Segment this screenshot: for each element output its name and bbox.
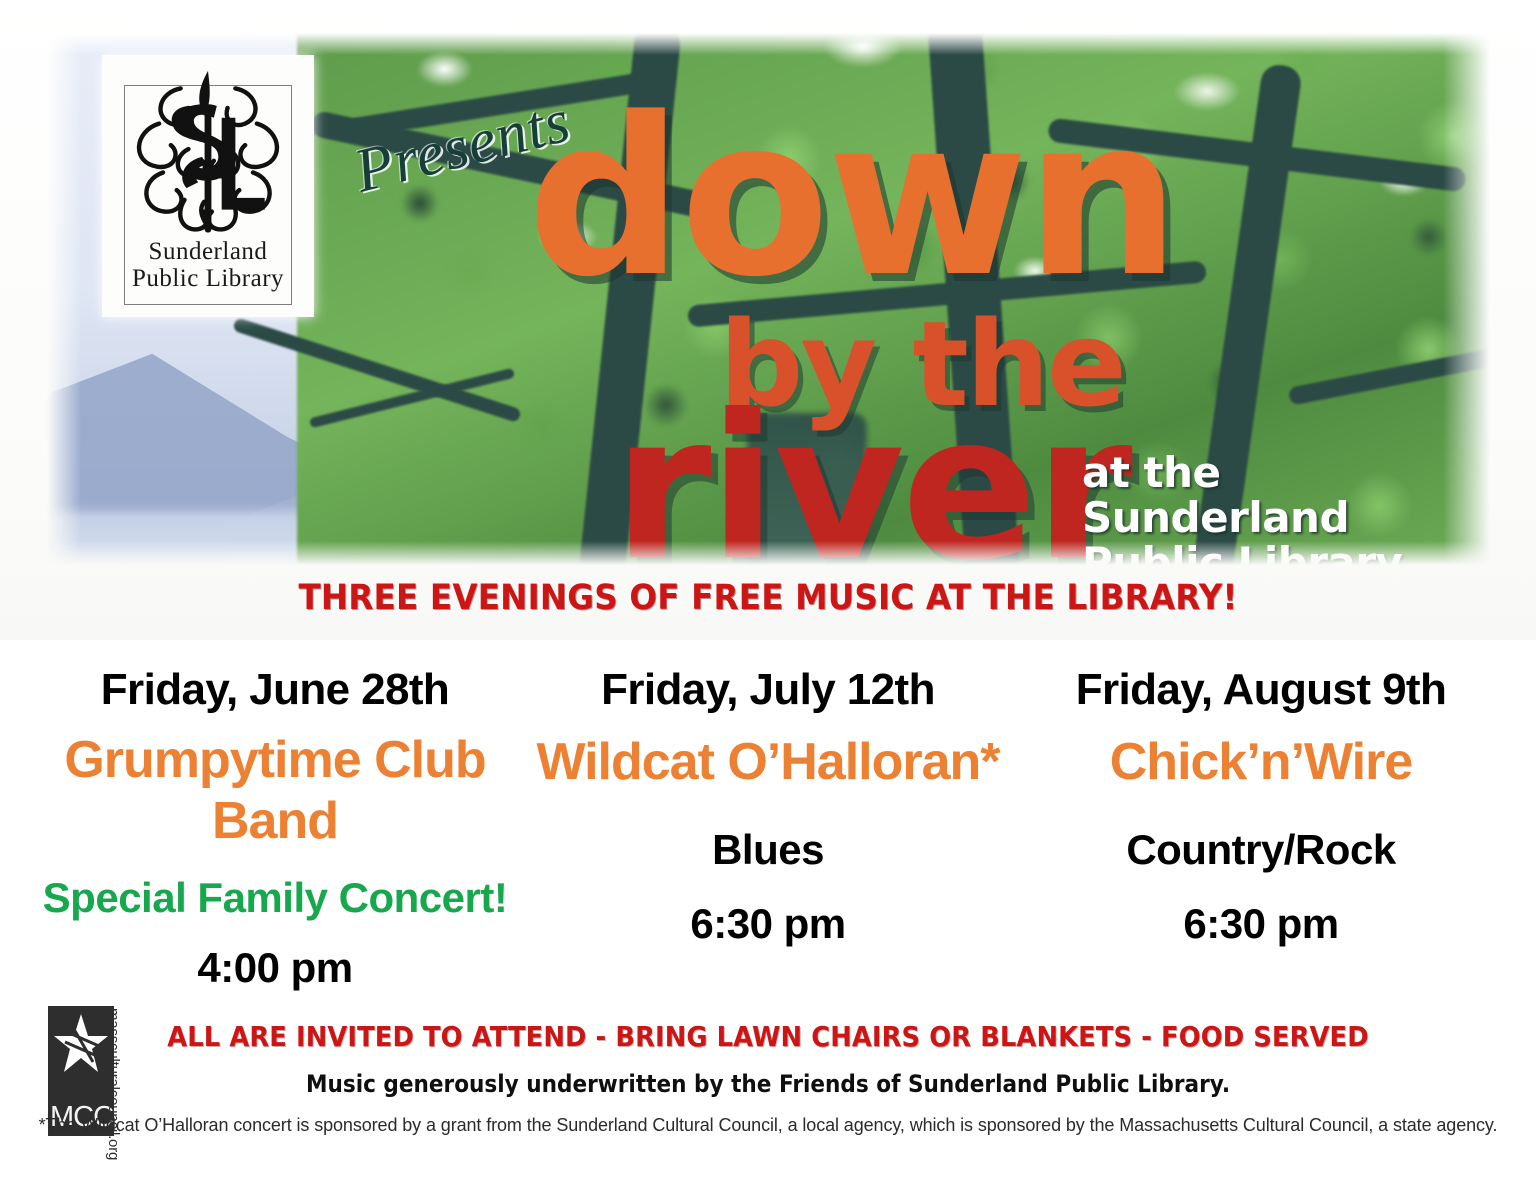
poster-root: Sunderland Public Library Presents down … (0, 0, 1536, 1187)
logo-line-1: Sunderland (132, 239, 284, 264)
venue-line-2: Sunderland (1082, 496, 1402, 541)
concert-genre: Country/Rock (1026, 827, 1496, 873)
concert-column-3: Friday, August 9th Chick’n’Wire Country/… (1026, 666, 1496, 947)
tagline: THREE EVENINGS OF FREE MUSIC AT THE LIBR… (54, 578, 1482, 618)
concert-time: 4:00 pm (40, 945, 510, 991)
concert-genre: Blues (533, 827, 1003, 873)
venue-line-3: Public Library (1082, 541, 1402, 565)
concert-genre: Special Family Concert! (40, 875, 510, 921)
hero-banner-image: Sunderland Public Library Presents down … (47, 33, 1490, 565)
concert-list: Friday, June 28th Grumpytime Club Band S… (40, 666, 1496, 991)
spl-monogram-icon (119, 63, 297, 239)
footer-invite: ALL ARE INVITED TO ATTEND - BRING LAWN C… (61, 1020, 1474, 1053)
concert-column-2: Friday, July 12th Wildcat O’Halloran* Bl… (533, 666, 1003, 947)
concert-band: Chick’n’Wire (1026, 732, 1496, 792)
concert-band: Grumpytime Club Band (40, 730, 510, 851)
library-logo-text: Sunderland Public Library (132, 239, 284, 291)
footer-footnote: *The Wildcat O’Halloran concert is spons… (0, 1115, 1536, 1136)
venue-line-1: at the (1082, 451, 1402, 496)
venue-subtitle: at the Sunderland Public Library (1082, 451, 1402, 565)
concert-date: Friday, June 28th (40, 666, 510, 714)
footer-credit: Music generously underwritten by the Fri… (77, 1070, 1459, 1098)
concert-column-1: Friday, June 28th Grumpytime Club Band S… (40, 666, 510, 991)
title-word-down: down (527, 105, 1177, 292)
concert-date: Friday, August 9th (1026, 666, 1496, 714)
concert-date: Friday, July 12th (533, 666, 1003, 714)
library-logo: Sunderland Public Library (102, 55, 314, 317)
concert-time: 6:30 pm (533, 901, 1003, 947)
title-word-river: river (613, 403, 1130, 565)
concert-band: Wildcat O’Halloran* (533, 732, 1003, 792)
logo-line-2: Public Library (132, 266, 284, 291)
concert-time: 6:30 pm (1026, 901, 1496, 947)
hero-banner-area: Sunderland Public Library Presents down … (0, 0, 1536, 640)
